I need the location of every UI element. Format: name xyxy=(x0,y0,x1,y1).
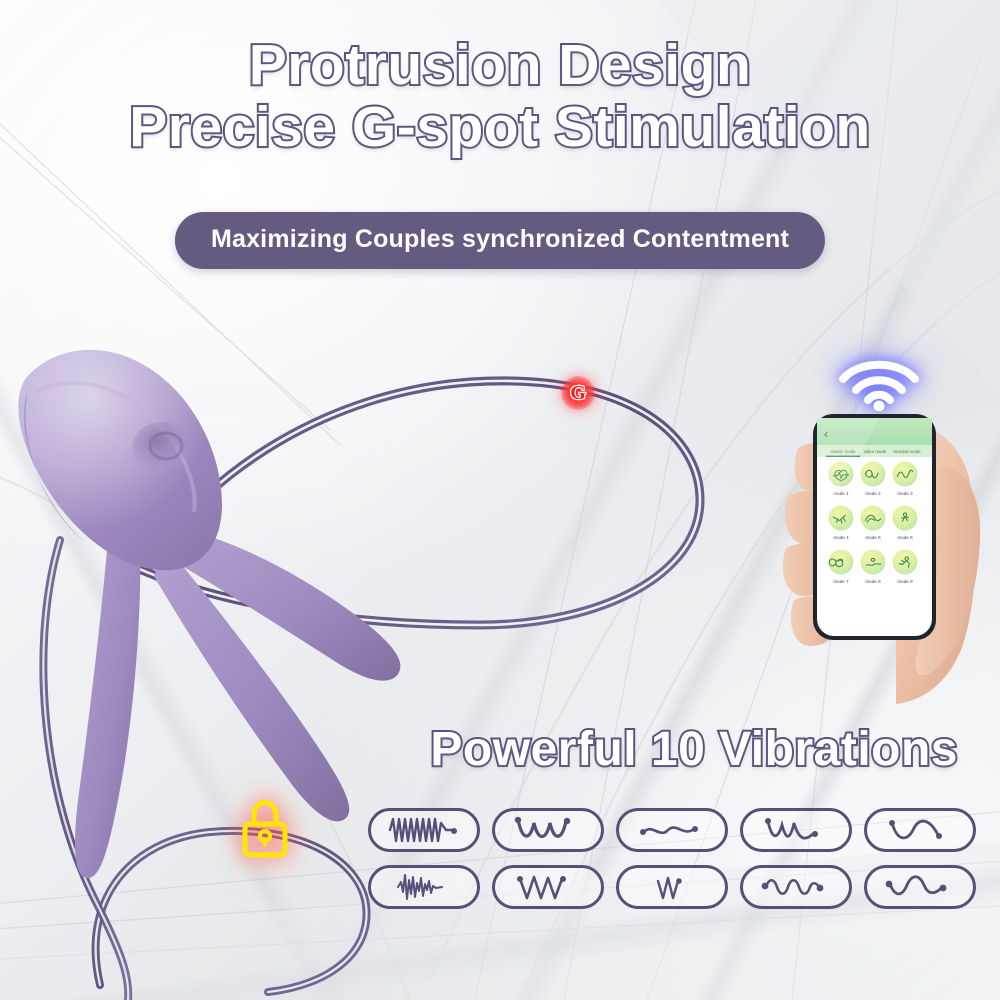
g-spot-marker-label: G xyxy=(570,383,586,403)
mode-label: mode 2 xyxy=(865,491,881,496)
mode-icon-bg[interactable] xyxy=(861,550,886,575)
subtitle-banner-text: Maximizing Couples synchronized Contentm… xyxy=(211,225,789,253)
headline-line-1: Protrusion Design xyxy=(0,34,1000,96)
mode-icon-bg[interactable] xyxy=(829,550,854,575)
mode-label: mode 8 xyxy=(865,579,881,584)
mode-label: mode 9 xyxy=(897,579,913,584)
mode-label: mode 3 xyxy=(897,491,913,496)
smartphone-in-hand: ‹ classic mode video mode musical mode m… xyxy=(770,408,1000,708)
vibration-heading: Powerful 10 Vibrations xyxy=(430,722,958,778)
wifi-icon xyxy=(833,349,925,411)
mode-icon-bg[interactable] xyxy=(861,462,886,487)
lock-icon xyxy=(236,798,294,860)
vibration-pattern-4[interactable] xyxy=(740,808,852,852)
vibration-pattern-row-1 xyxy=(368,808,988,852)
tab-musical-mode: musical mode xyxy=(893,449,921,454)
g-spot-marker: G xyxy=(561,376,595,410)
mode-icon-bg[interactable] xyxy=(829,506,854,531)
vibration-pattern-3[interactable] xyxy=(616,808,728,852)
vibration-pattern-grid xyxy=(368,808,988,922)
mode-icon-bg[interactable] xyxy=(893,462,918,487)
mode-icon-bg[interactable] xyxy=(861,506,886,531)
subtitle-banner: Maximizing Couples synchronized Contentm… xyxy=(175,212,825,269)
mode-label: mode 6 xyxy=(897,535,913,540)
vibration-pattern-9[interactable] xyxy=(740,865,852,909)
vibration-pattern-5[interactable] xyxy=(864,808,976,852)
vibration-pattern-6[interactable] xyxy=(368,865,480,909)
vibration-pattern-row-2 xyxy=(368,865,988,909)
mode-label: mode 7 xyxy=(833,579,849,584)
mode-label: mode 4 xyxy=(833,535,849,540)
product-device xyxy=(0,330,420,950)
tab-video-mode: video mode xyxy=(864,449,887,454)
vibration-pattern-1[interactable] xyxy=(368,808,480,852)
banner-canvas: Protrusion Design Precise G-spot Stimula… xyxy=(0,0,1000,1000)
mode-label: mode 5 xyxy=(865,535,881,540)
vibration-pattern-2[interactable] xyxy=(492,808,604,852)
headline-line-2: Precise G-spot Stimulation xyxy=(0,96,1000,158)
vibration-pattern-7[interactable] xyxy=(492,865,604,909)
vibration-pattern-10[interactable] xyxy=(864,865,976,909)
vibration-pattern-8[interactable] xyxy=(616,865,728,909)
